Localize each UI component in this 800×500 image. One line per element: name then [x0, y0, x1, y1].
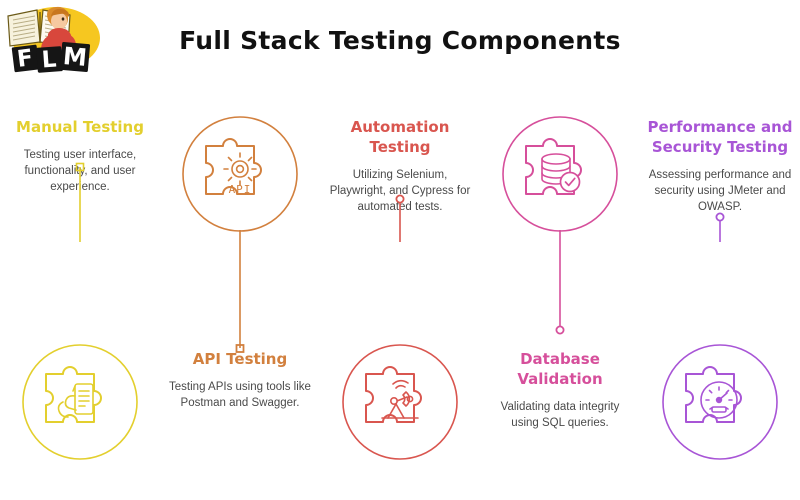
database-check-icon[interactable] [498, 112, 622, 236]
node-circle [183, 117, 297, 231]
database-validation-heading: Database Validation [486, 350, 634, 390]
connector-dot-circle [396, 195, 403, 202]
robot-arm-glyph [382, 381, 418, 418]
node-circle [343, 345, 457, 459]
performance-security-node[interactable] [658, 340, 782, 464]
robot-arm-icon[interactable] [338, 340, 462, 464]
automation-testing-node[interactable] [338, 340, 462, 464]
node-circle [23, 345, 137, 459]
column-automation-testing: Automation Testing Utilizing Selenium, P… [320, 100, 480, 500]
connector-database-validation [480, 230, 640, 360]
check-badge-glyph [561, 173, 580, 192]
puzzle-piece-shape [686, 367, 741, 422]
hand-checklist-icon[interactable] [18, 340, 142, 464]
column-manual-testing: Manual Testing Testing user interface, f… [0, 100, 160, 500]
gauge-glyph [701, 382, 737, 418]
api-testing-heading: API Testing [166, 350, 314, 370]
api-testing-text: API Testing Testing APIs using tools lik… [160, 350, 320, 411]
api-testing-body: Testing APIs using tools like Postman an… [166, 379, 314, 412]
speedometer-icon[interactable] [658, 340, 782, 464]
column-api-testing: API API Testing Testing APIs using tools… [160, 100, 320, 500]
hand-clipboard-glyph [59, 384, 94, 417]
connector-dot-circle [716, 213, 723, 220]
database-validation-text: Database Validation Validating data inte… [480, 350, 640, 431]
manual-testing-node[interactable] [18, 340, 142, 464]
connector-dot-circle [556, 326, 563, 333]
api-testing-node[interactable]: API [178, 112, 302, 236]
gear-api-icon[interactable]: API [178, 112, 302, 236]
api-icon-label: API [229, 183, 252, 196]
database-validation-node[interactable] [498, 112, 622, 236]
connector-api-testing [160, 230, 320, 360]
node-circle [503, 117, 617, 231]
connector-automation-testing [320, 112, 480, 242]
page-title: Full Stack Testing Components [0, 26, 800, 55]
column-database-validation: Database Validation Validating data inte… [480, 100, 640, 500]
column-performance-security-testing: Performance and Security Testing Assessi… [640, 100, 800, 500]
database-validation-body: Validating data integrity using SQL quer… [486, 399, 634, 432]
puzzle-piece-shape [366, 367, 421, 422]
gear-glyph [224, 153, 256, 185]
connector-performance-security [640, 112, 800, 242]
connector-manual-testing [0, 112, 160, 242]
